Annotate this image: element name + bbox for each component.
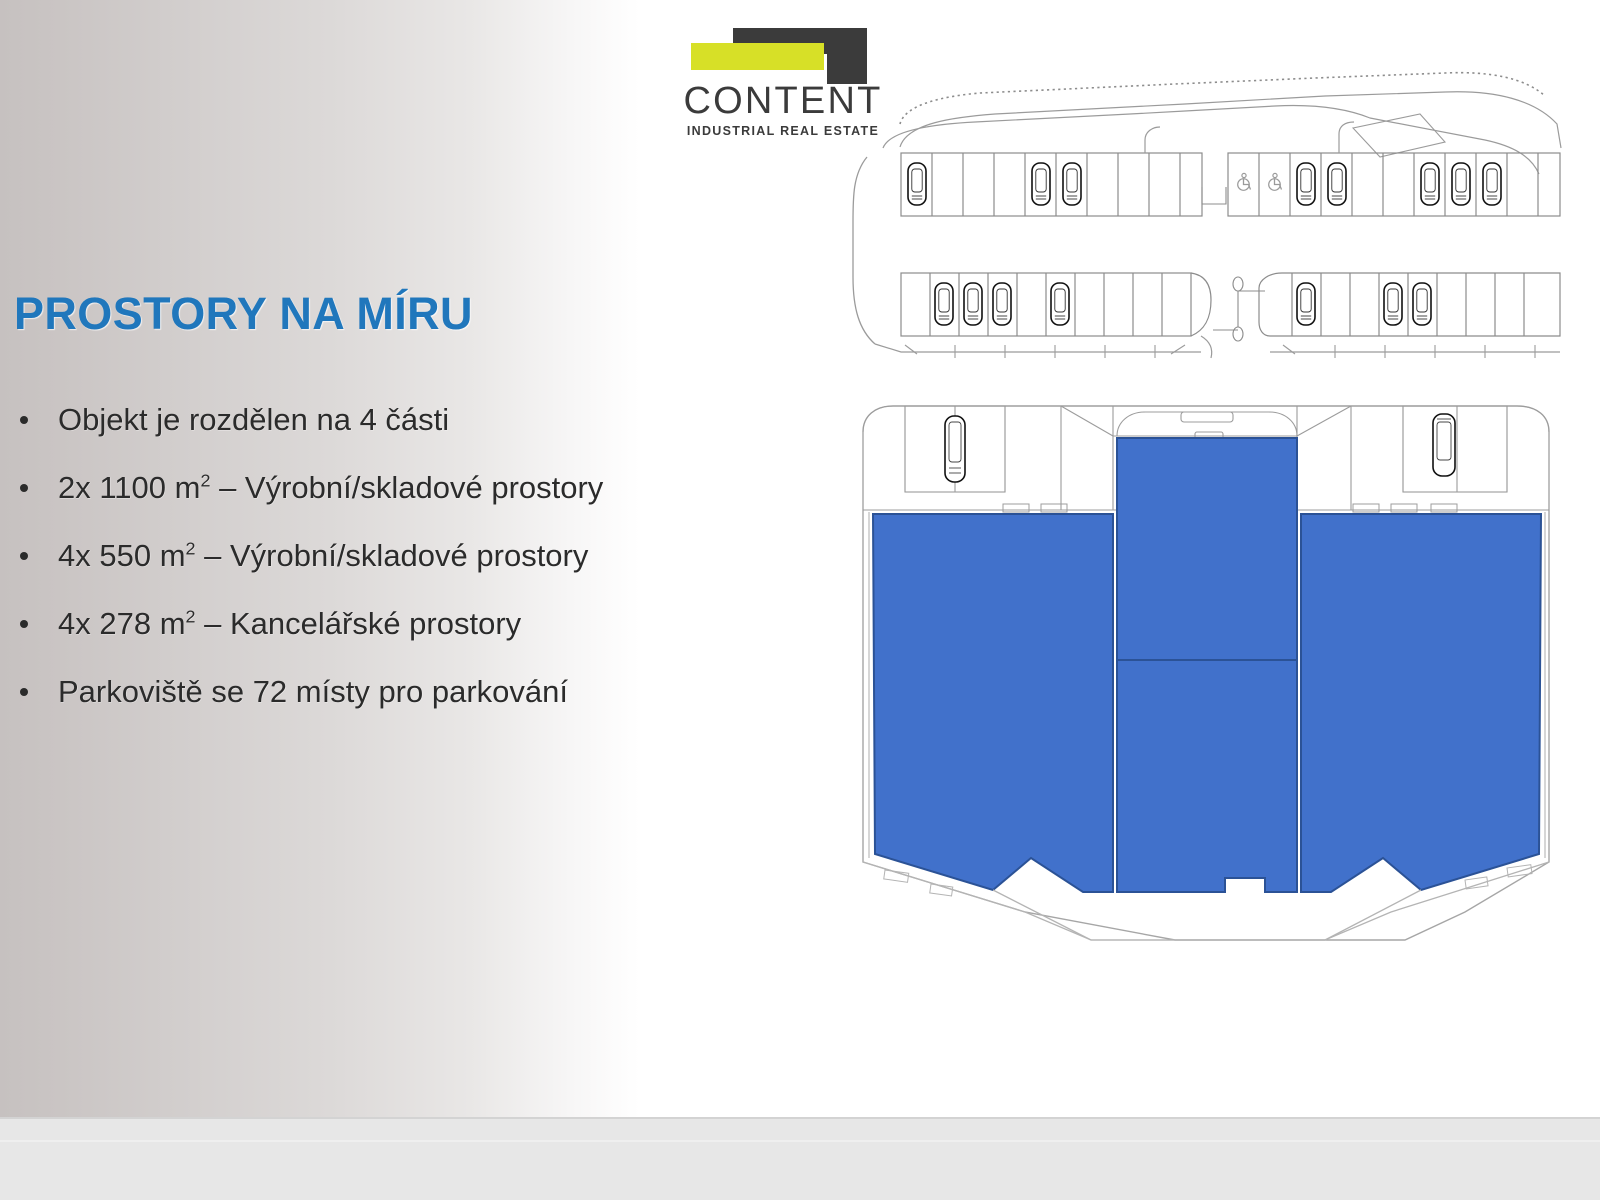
list-item-suffix: – Výrobní/skladové prostory bbox=[196, 538, 589, 573]
car-icon bbox=[964, 283, 982, 325]
bullet-dot-icon bbox=[20, 688, 28, 696]
unit-right bbox=[1301, 514, 1541, 892]
car-icon bbox=[1063, 163, 1081, 205]
list-item: Parkoviště se 72 místy pro parkování bbox=[10, 667, 810, 717]
bullet-dot-icon bbox=[20, 484, 28, 492]
list-item: Objekt je rozdělen na 4 části bbox=[10, 395, 810, 445]
car-icon bbox=[1297, 163, 1315, 205]
list-item-label: Objekt je rozdělen na 4 části bbox=[58, 402, 449, 437]
slide-canvas: CONTENT INDUSTRIAL REAL ESTATE PROSTORY … bbox=[0, 0, 1600, 1200]
car-icon bbox=[1483, 163, 1501, 205]
car-icon bbox=[1421, 163, 1439, 205]
unit-floor-plan-image bbox=[845, 392, 1567, 992]
parking-plan-svg bbox=[845, 62, 1567, 362]
list-item-superscript: 2 bbox=[186, 539, 196, 559]
bullet-dot-icon bbox=[20, 552, 28, 560]
list-item-prefix: 4x 550 m bbox=[58, 538, 186, 573]
list-item: 4x 550 m2 – Výrobní/skladové prostory bbox=[10, 531, 810, 581]
car-icon bbox=[908, 163, 926, 205]
accessible-parking-icon bbox=[1269, 173, 1282, 190]
unit-center-upper bbox=[1117, 438, 1297, 660]
list-item-superscript: 2 bbox=[186, 607, 196, 627]
parking-row-top-left bbox=[901, 153, 1202, 216]
unit-left bbox=[873, 514, 1113, 892]
list-item-suffix: – Kancelářské prostory bbox=[196, 606, 522, 641]
car-icon bbox=[1297, 283, 1315, 325]
car-icon bbox=[935, 283, 953, 325]
list-item-suffix: – Výrobní/skladové prostory bbox=[210, 470, 603, 505]
logo-lime-bar-icon bbox=[691, 43, 824, 70]
bullet-list: Objekt je rozdělen na 4 části 2x 1100 m2… bbox=[10, 395, 810, 735]
list-item-prefix: 4x 278 m bbox=[58, 606, 186, 641]
car-icon bbox=[1051, 283, 1069, 325]
list-item-prefix: 2x 1100 m bbox=[58, 470, 200, 505]
list-item: 4x 278 m2 – Kancelářské prostory bbox=[10, 599, 810, 649]
car-icon bbox=[993, 283, 1011, 325]
car-icon bbox=[1413, 283, 1431, 325]
unit-center-lower bbox=[1117, 660, 1297, 892]
floor-plan-svg bbox=[845, 392, 1567, 992]
list-item-superscript: 2 bbox=[200, 471, 210, 491]
slide-footer-divider bbox=[0, 1140, 1600, 1142]
car-icon bbox=[1384, 283, 1402, 325]
car-icon bbox=[1452, 163, 1470, 205]
car-icon bbox=[1032, 163, 1050, 205]
list-item-label: Parkoviště se 72 místy pro parkování bbox=[58, 674, 568, 709]
accessible-parking-icon bbox=[1238, 173, 1251, 190]
parking-floor-plan-image bbox=[845, 62, 1567, 362]
car-icon bbox=[1328, 163, 1346, 205]
page-title: PROSTORY NA MÍRU bbox=[14, 288, 473, 340]
bullet-dot-icon bbox=[20, 620, 28, 628]
slide-footer-band bbox=[0, 1117, 1600, 1200]
bullet-dot-icon bbox=[20, 416, 28, 424]
list-item: 2x 1100 m2 – Výrobní/skladové prostory bbox=[10, 463, 810, 513]
